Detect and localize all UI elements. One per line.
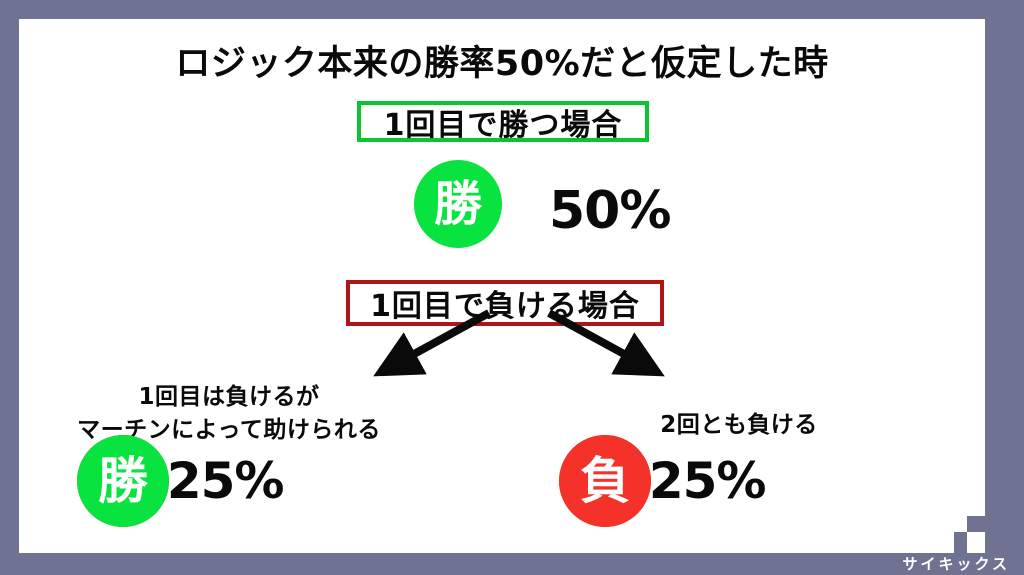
chip-right-second: 負 xyxy=(559,435,651,527)
box-label-lose-first-text: 1回目で負ける場合 xyxy=(370,281,640,325)
box-label-win-first-text: 1回目で勝つ場合 xyxy=(384,100,623,144)
chip-left-second: 勝 xyxy=(77,435,169,527)
chip-right-second-label: 負 xyxy=(580,456,630,506)
result-row-right: 負 ✕ 負 25% xyxy=(559,456,766,506)
caption-left-line1: 1回目は負けるが xyxy=(19,377,439,411)
box-label-lose-first: 1回目で負ける場合 xyxy=(346,280,664,326)
result-row-left: 負 ✕ 勝 25% xyxy=(77,456,284,506)
sheet-corner-notch xyxy=(967,516,985,532)
chip-win-top: 勝 xyxy=(414,160,502,248)
page-title: ロジック本来の勝率50%だと仮定した時 xyxy=(19,35,985,86)
chip-left-second-label: 勝 xyxy=(98,456,148,506)
percent-win-top: 50% xyxy=(549,181,670,241)
chip-win-top-label: 勝 xyxy=(434,180,482,228)
slide-canvas: ロジック本来の勝率50%だと仮定した時 1回目で勝つ場合 勝 50% 1回目で負… xyxy=(0,0,1024,575)
caption-left-line2: マーチンによって助けられる xyxy=(19,410,439,444)
white-content-sheet: ロジック本来の勝率50%だと仮定した時 1回目で勝つ場合 勝 50% 1回目で負… xyxy=(19,19,985,553)
sheet-corner-notch-2 xyxy=(954,532,967,553)
percent-right-outcome: 25% xyxy=(649,456,766,506)
caption-right-line1: 2回とも負ける xyxy=(529,405,949,439)
box-label-win-first: 1回目で勝つ場合 xyxy=(357,101,649,142)
percent-left-outcome: 25% xyxy=(167,456,284,506)
brand-watermark: サイキックス xyxy=(902,553,1010,574)
